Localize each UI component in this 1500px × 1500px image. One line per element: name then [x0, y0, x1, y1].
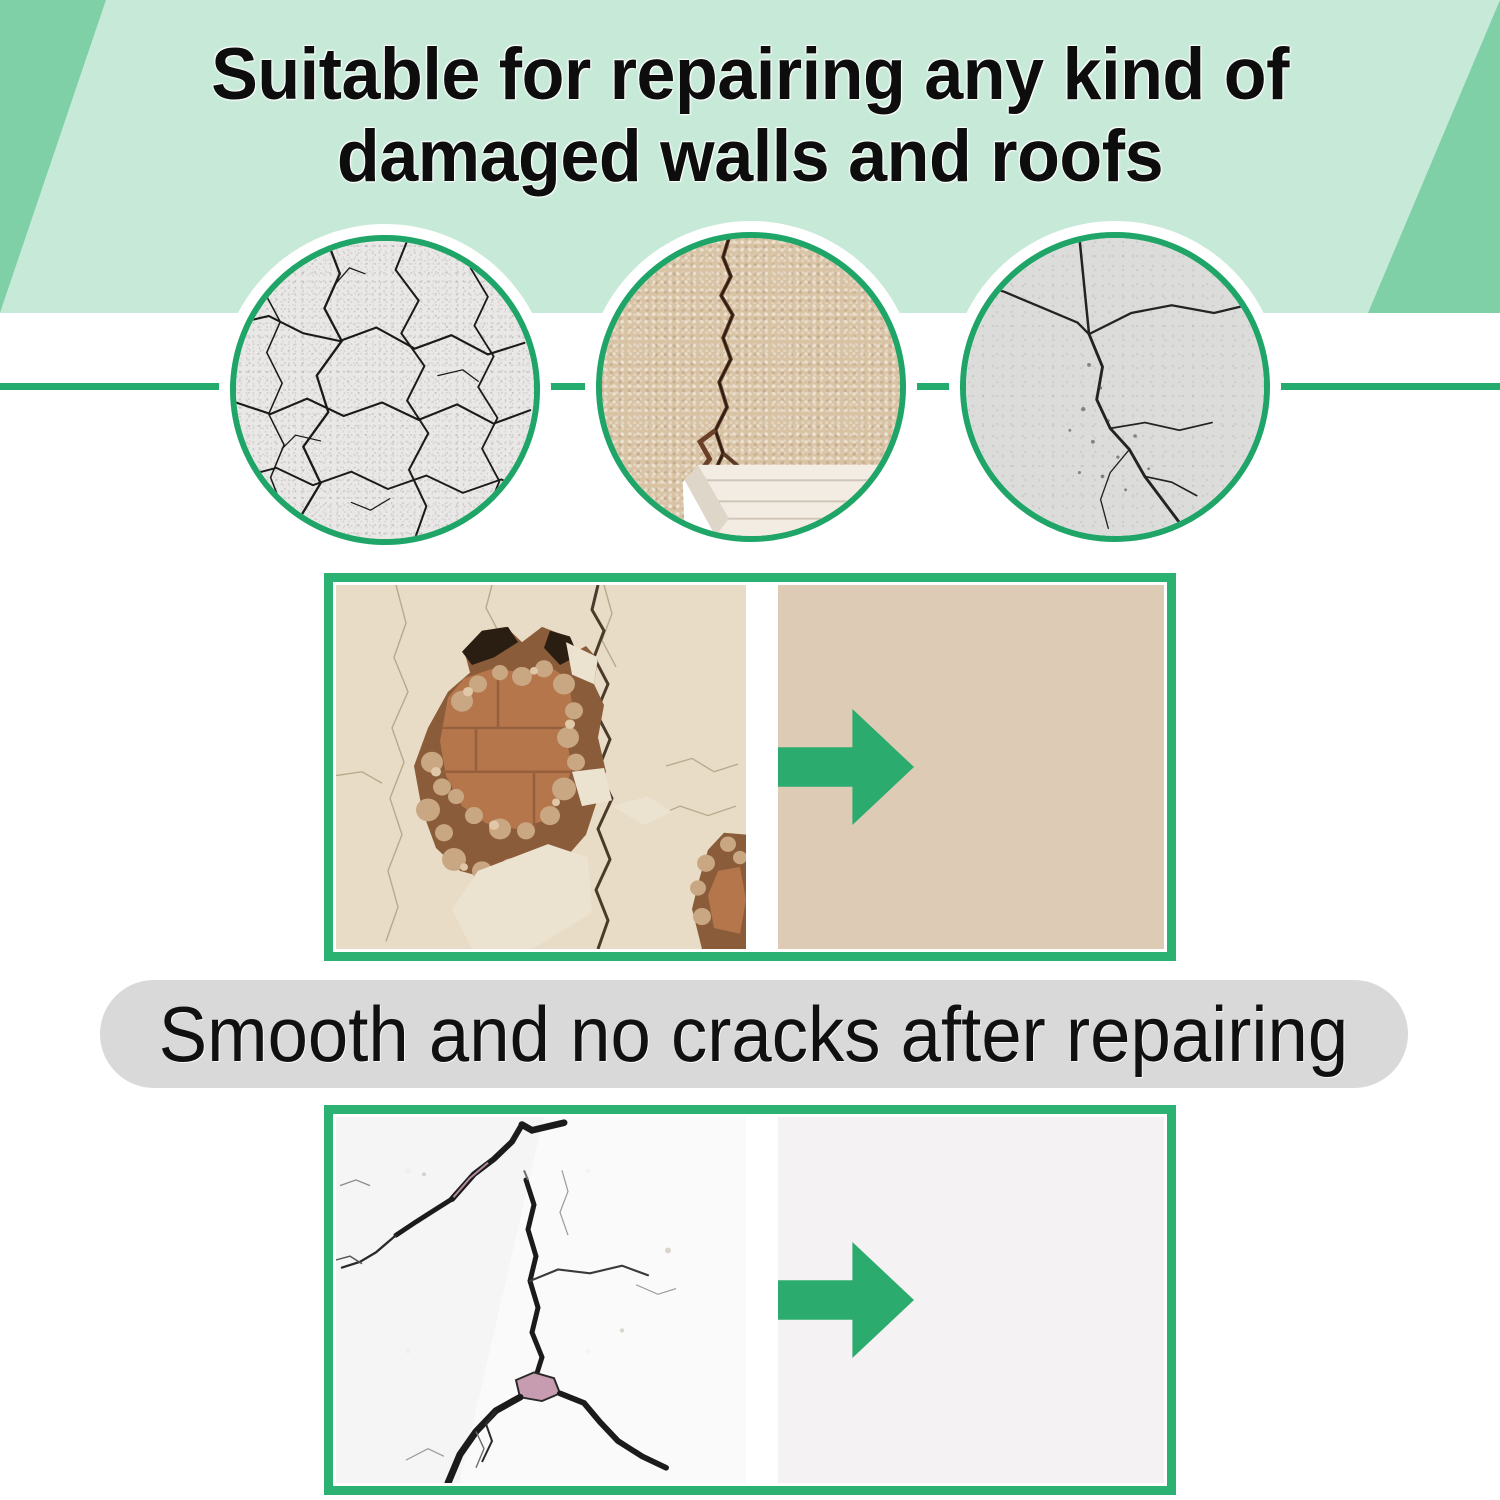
crack-pattern-1-icon — [236, 241, 534, 539]
comparison-panel-2-inner — [336, 1117, 1164, 1483]
before-image-cracked-white-wall — [336, 1117, 746, 1483]
wall-damage-illustration-icon — [336, 585, 746, 949]
comparison-panel-1-gap — [746, 585, 778, 949]
before-image-damaged-plaster-wall — [336, 585, 746, 949]
crack-pattern-3-icon — [966, 238, 1264, 536]
comparison-panel-2-gap — [746, 1117, 778, 1483]
crack-circle-cracked-white-plaster — [230, 235, 540, 545]
page-title: Suitable for repairing any kind of damag… — [30, 34, 1470, 198]
after-image-smooth-white-wall — [778, 1117, 1164, 1483]
right-arrow-icon — [778, 1242, 914, 1358]
comparison-panel-cracked-white-wall — [324, 1105, 1176, 1495]
comparison-panel-damaged-plaster-wall — [324, 573, 1176, 961]
crack-circle-cracked-gray-wall — [960, 232, 1270, 542]
pill-banner: Smooth and no cracks after repairing — [100, 980, 1408, 1088]
after-image-smooth-beige-wall — [778, 585, 1164, 949]
right-arrow-icon — [778, 709, 914, 825]
crack-circle-cracked-tan-stucco — [596, 232, 906, 542]
crack-pattern-2-icon — [602, 238, 900, 536]
wall-crack-illustration-icon — [336, 1117, 746, 1483]
pill-banner-text: Smooth and no cracks after repairing — [159, 995, 1348, 1073]
comparison-panel-1-inner — [336, 585, 1164, 949]
